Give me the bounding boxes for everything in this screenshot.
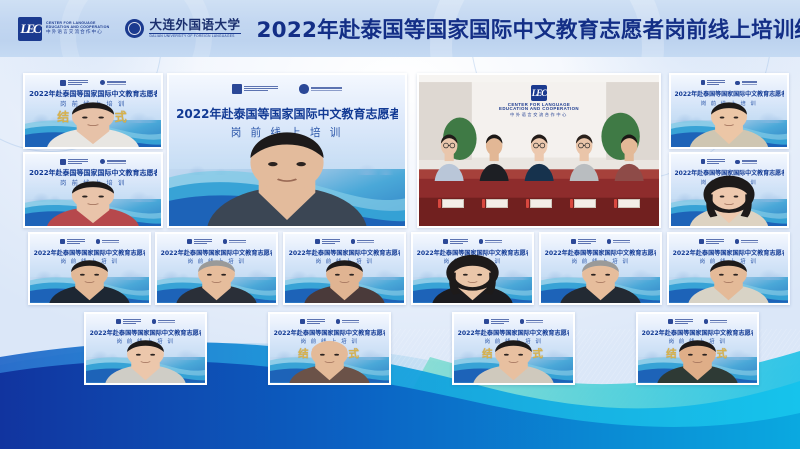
room-attendee [430,129,468,180]
participant-silhouette [671,154,787,226]
video-tile[interactable]: 2022年赴泰国等国家国际中文教育志愿者 岗 前 线 上 培 训 结 班 仪 式 [23,73,163,149]
participant-silhouette [541,234,660,303]
page-title: 2022年赴泰国等国家国际中文教育志愿者岗前线上培训结班仪式 [257,13,800,44]
participant-silhouette [454,314,573,383]
tile-video-area: 2022年赴泰国等国家国际中文教育志愿者 岗 前 线 上 培 训 [285,234,404,303]
nameplate [530,199,552,208]
video-tile[interactable]: 2022年赴泰国等国家国际中文教育志愿者 岗 前 线 上 培 训 [28,232,151,305]
dufl-logo-cn: 大连外国语大学 [149,19,240,32]
room-logo-wall: LEC CENTER FOR LANGUAGE EDUCATION AND CO… [419,83,659,118]
video-tile[interactable]: 2022年赴泰国等国家国际中文教育志愿者 岗 前 线 上 培 训 [669,152,789,228]
participant-silhouette [413,234,532,303]
tile-video-area: 2022年赴泰国等国家国际中文教育志愿者 岗 前 线 上 培 训 [86,314,205,383]
room-attendee [475,129,513,180]
tile-video-area: 2022年赴泰国等国家国际中文教育志愿者 岗 前 线 上 培 训 结 班 仪 式 [638,314,757,383]
room-wall-mark: LEC [531,85,547,101]
tile-video-area: 2022年赴泰国等国家国际中文教育志愿者 岗 前 线 上 培 训 结 班 仪 式 [270,314,389,383]
video-tile[interactable]: 2022年赴泰国等国家国际中文教育志愿者 岗 前 线 上 培 训 [167,73,407,228]
video-tile[interactable]: 2022年赴泰国等国家国际中文教育志愿者 岗 前 线 上 培 训 结 班 仪 式 [452,312,575,385]
tile-video-area: 2022年赴泰国等国家国际中文教育志愿者 岗 前 线 上 培 训 [671,75,787,147]
tile-video-area: 2022年赴泰国等国家国际中文教育志愿者 岗 前 线 上 培 训 [157,234,276,303]
water-bottle-icon [482,199,485,208]
video-tile[interactable]: 2022年赴泰国等国家国际中文教育志愿者 岗 前 线 上 培 训 [667,232,790,305]
nameplate [442,199,464,208]
video-tile[interactable]: 2022年赴泰国等国家国际中文教育志愿者 岗 前 线 上 培 训 结 班 仪 式 [636,312,759,385]
nameplate-group [570,199,596,208]
dufl-logo-en: DALIAN UNIVERSITY OF FOREIGN LANGUAGES [149,33,240,38]
dufl-logo: 大连外国语大学 DALIAN UNIVERSITY OF FOREIGN LAN… [125,19,240,38]
tile-video-area: 2022年赴泰国等国家国际中文教育志愿者 岗 前 线 上 培 训 [25,154,161,226]
participant-silhouette [671,75,787,147]
video-tile[interactable]: 2022年赴泰国等国家国际中文教育志愿者 岗 前 线 上 培 训 [539,232,662,305]
conference-room-scene: LEC CENTER FOR LANGUAGE EDUCATION AND CO… [419,75,659,226]
dufl-seal-icon [125,19,144,38]
water-bottle-icon [438,199,441,208]
tile-video-area: 2022年赴泰国等国家国际中文教育志愿者 岗 前 线 上 培 训 [413,234,532,303]
nameplate-group [482,199,508,208]
room-nameplates [419,181,659,226]
clec-logo-cn: 中外语言交流合作中心 [46,30,109,35]
nameplate [574,199,596,208]
room-wall-cn: 中外语言交流合作中心 [419,113,659,118]
tile-video-area: 2022年赴泰国等国家国际中文教育志愿者 岗 前 线 上 培 训 [169,75,405,226]
video-tile[interactable]: 2022年赴泰国等国家国际中文教育志愿者 岗 前 线 上 培 训 [23,152,163,228]
video-tile[interactable]: 2022年赴泰国等国家国际中文教育志愿者 岗 前 线 上 培 训 [84,312,207,385]
participant-silhouette [669,234,788,303]
participant-silhouette [25,75,161,147]
tile-video-area: 2022年赴泰国等国家国际中文教育志愿者 岗 前 线 上 培 训 [541,234,660,303]
water-bottle-icon [570,199,573,208]
clec-logo: LEC CENTER FOR LANGUAGE EDUCATION AND CO… [18,17,109,41]
tile-video-area: 2022年赴泰国等国家国际中文教育志愿者 岗 前 线 上 培 训 [30,234,149,303]
video-tile[interactable]: 2022年赴泰国等国家国际中文教育志愿者 岗 前 线 上 培 训 [283,232,406,305]
video-tile[interactable]: 2022年赴泰国等国家国际中文教育志愿者 岗 前 线 上 培 训 [155,232,278,305]
participant-silhouette [169,75,405,226]
participant-silhouette [30,234,149,303]
meeting-screenshot: LEC CENTER FOR LANGUAGE EDUCATION AND CO… [0,0,800,449]
nameplate [618,199,640,208]
video-tile[interactable]: 2022年赴泰国等国家国际中文教育志愿者 岗 前 线 上 培 训 [411,232,534,305]
tile-video-area: 2022年赴泰国等国家国际中文教育志愿者 岗 前 线 上 培 训 [671,154,787,226]
nameplate-group [614,199,640,208]
tile-video-area: 2022年赴泰国等国家国际中文教育志愿者 岗 前 线 上 培 训 [669,234,788,303]
room-attendee [610,129,648,180]
participant-silhouette [285,234,404,303]
participant-silhouette [638,314,757,383]
nameplate [486,199,508,208]
room-attendee [565,129,603,180]
water-bottle-icon [526,199,529,208]
video-tile[interactable]: LEC CENTER FOR LANGUAGE EDUCATION AND CO… [417,73,661,228]
video-tile[interactable]: 2022年赴泰国等国家国际中文教育志愿者 岗 前 线 上 培 训 结 班 仪 式 [268,312,391,385]
participant-silhouette [270,314,389,383]
tile-video-area: 2022年赴泰国等国家国际中文教育志愿者 岗 前 线 上 培 训 结 班 仪 式 [454,314,573,383]
room-attendee [520,129,558,180]
video-tile[interactable]: 2022年赴泰国等国家国际中文教育志愿者 岗 前 线 上 培 训 [669,73,789,149]
participant-silhouette [25,154,161,226]
water-bottle-icon [614,199,617,208]
tile-video-area: LEC CENTER FOR LANGUAGE EDUCATION AND CO… [419,75,659,226]
tile-video-area: 2022年赴泰国等国家国际中文教育志愿者 岗 前 线 上 培 训 结 班 仪 式 [25,75,161,147]
clec-logo-mark: LEC [18,17,42,41]
nameplate-group [438,199,464,208]
participant-silhouette [157,234,276,303]
nameplate-group [526,199,552,208]
participant-silhouette [86,314,205,383]
room-attendees [419,129,659,180]
header-banner: LEC CENTER FOR LANGUAGE EDUCATION AND CO… [0,0,800,57]
